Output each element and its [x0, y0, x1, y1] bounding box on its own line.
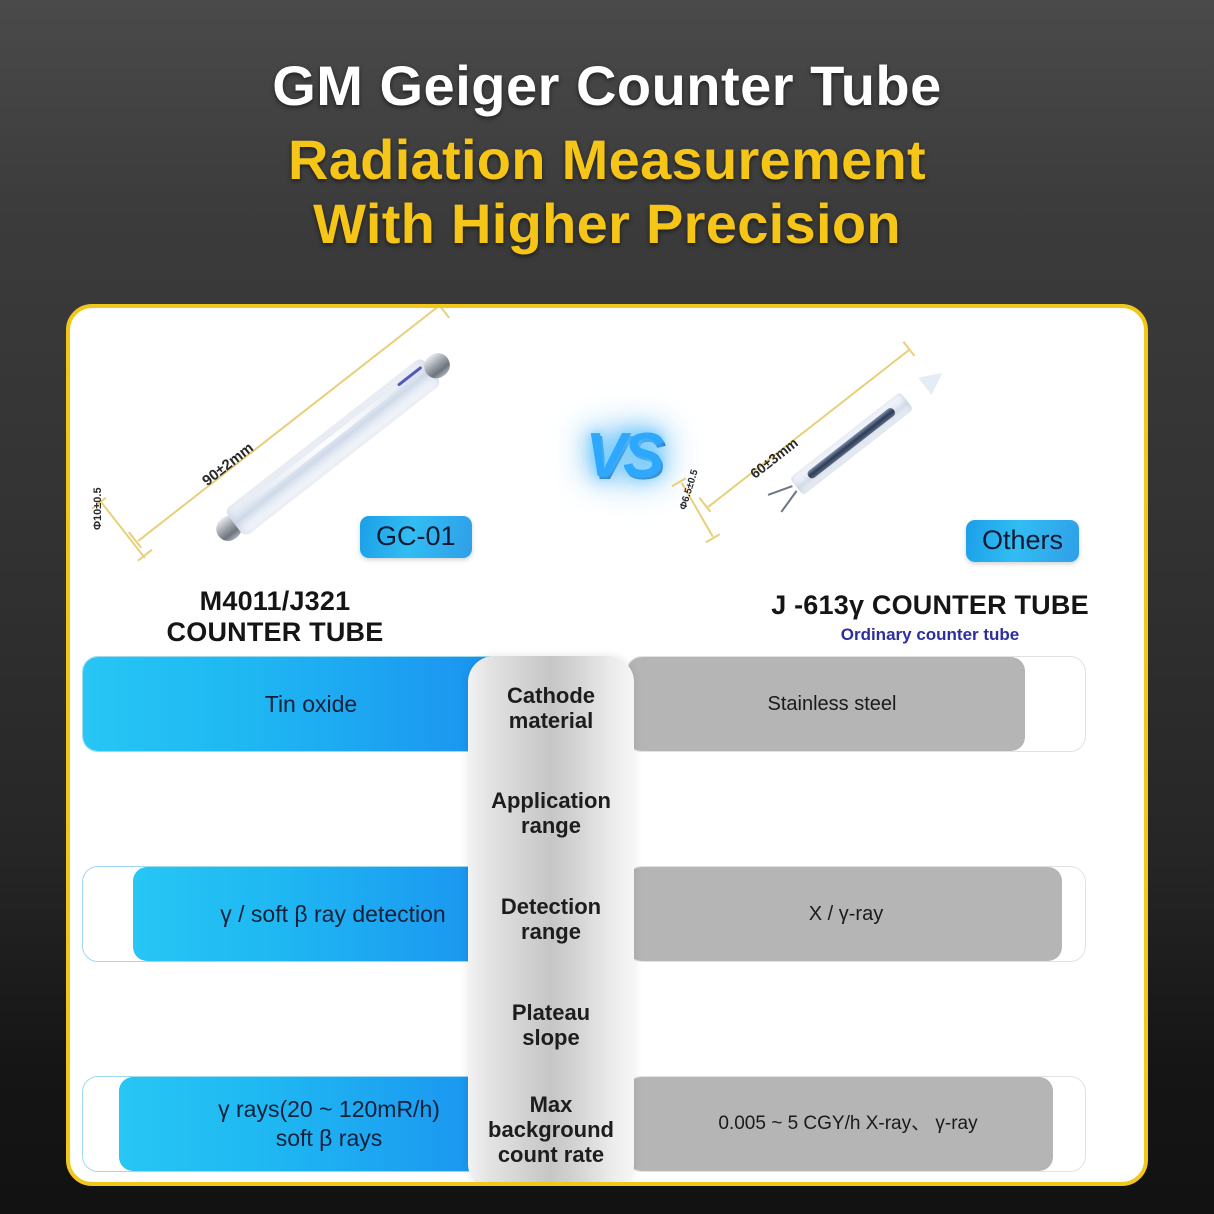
product-others: 60±3mm Φ6.5±0.5 Others	[670, 308, 1140, 658]
gc01-caption: M4011/J321 COUNTER TUBE	[66, 586, 525, 647]
gc01-length-guide-line	[138, 304, 446, 541]
header: GM Geiger Counter Tube Radiation Measure…	[0, 58, 1214, 256]
gc01-diameter-label: Φ10±0.5	[92, 487, 104, 530]
attr-4-line2: slope	[468, 1026, 634, 1051]
row-3-gc01-value: γ rays(20 ~ 120mR/h) soft β rays	[83, 1095, 539, 1153]
gc01-length-tick-end	[436, 304, 449, 318]
row-3-gc01-value-line1: γ rays(20 ~ 120mR/h)	[133, 1095, 525, 1124]
row-1-others-cell: Stainless steel	[626, 656, 1086, 752]
others-tube-tip	[918, 364, 949, 395]
content-card: 90±2mm Φ10±0.5 GC-01	[66, 304, 1148, 1186]
gc01-badge: GC-01	[360, 516, 472, 558]
others-diameter-label: Φ6.5±0.5	[678, 468, 701, 511]
page-subtitle-line2: With Higher Precision	[0, 192, 1214, 256]
attribute-label-application-range: Application range	[468, 789, 634, 839]
product-gc01: 90±2mm Φ10±0.5 GC-01	[80, 308, 580, 658]
row-1-others-value: Stainless steel	[627, 692, 1085, 717]
gc01-name-line2: COUNTER TUBE	[66, 617, 525, 648]
attr-2-line2: range	[468, 814, 634, 839]
comparison-table: Tin oxide Stainless steel γ / soft β ray…	[70, 656, 1144, 1186]
gc01-diameter-guide-line	[101, 502, 145, 558]
others-subtitle: Ordinary counter tube	[695, 625, 1148, 645]
others-tube-body	[782, 376, 933, 501]
product-showcase: 90±2mm Φ10±0.5 GC-01	[70, 308, 1144, 658]
gc01-name-line1: M4011/J321	[66, 586, 525, 617]
others-badge: Others	[966, 520, 1079, 562]
others-name-line1: J -613γ COUNTER TUBE	[695, 590, 1148, 621]
gc01-tube-illustration: 90±2mm Φ10±0.5	[80, 308, 580, 588]
others-tube-lead-b	[781, 490, 797, 512]
attr-4-line1: Plateau	[468, 1001, 634, 1026]
attr-2-line1: Application	[468, 789, 634, 814]
others-caption: J -613γ COUNTER TUBE Ordinary counter tu…	[695, 590, 1148, 645]
attribute-label-plateau-slope: Plateau slope	[468, 1001, 634, 1051]
row-2-others-value: X / γ-ray	[627, 902, 1085, 927]
others-length-tick-end	[903, 341, 915, 356]
gc01-length-label: 90±2mm	[199, 439, 257, 489]
infographic-page: GM Geiger Counter Tube Radiation Measure…	[0, 0, 1214, 1214]
vs-label: VS	[563, 420, 683, 491]
row-3-gc01-value-line2: soft β rays	[133, 1124, 525, 1153]
others-tube-lead-a	[768, 485, 793, 495]
row-1-gc01-value: Tin oxide	[83, 690, 539, 719]
row-2-gc01-value: γ / soft β ray detection	[83, 900, 539, 929]
page-title: GM Geiger Counter Tube	[0, 58, 1214, 114]
row-3-others-value: 0.005 ~ 5 CGY/h X-ray、 γ-ray	[627, 1112, 1085, 1136]
page-subtitle-line1: Radiation Measurement	[0, 128, 1214, 192]
